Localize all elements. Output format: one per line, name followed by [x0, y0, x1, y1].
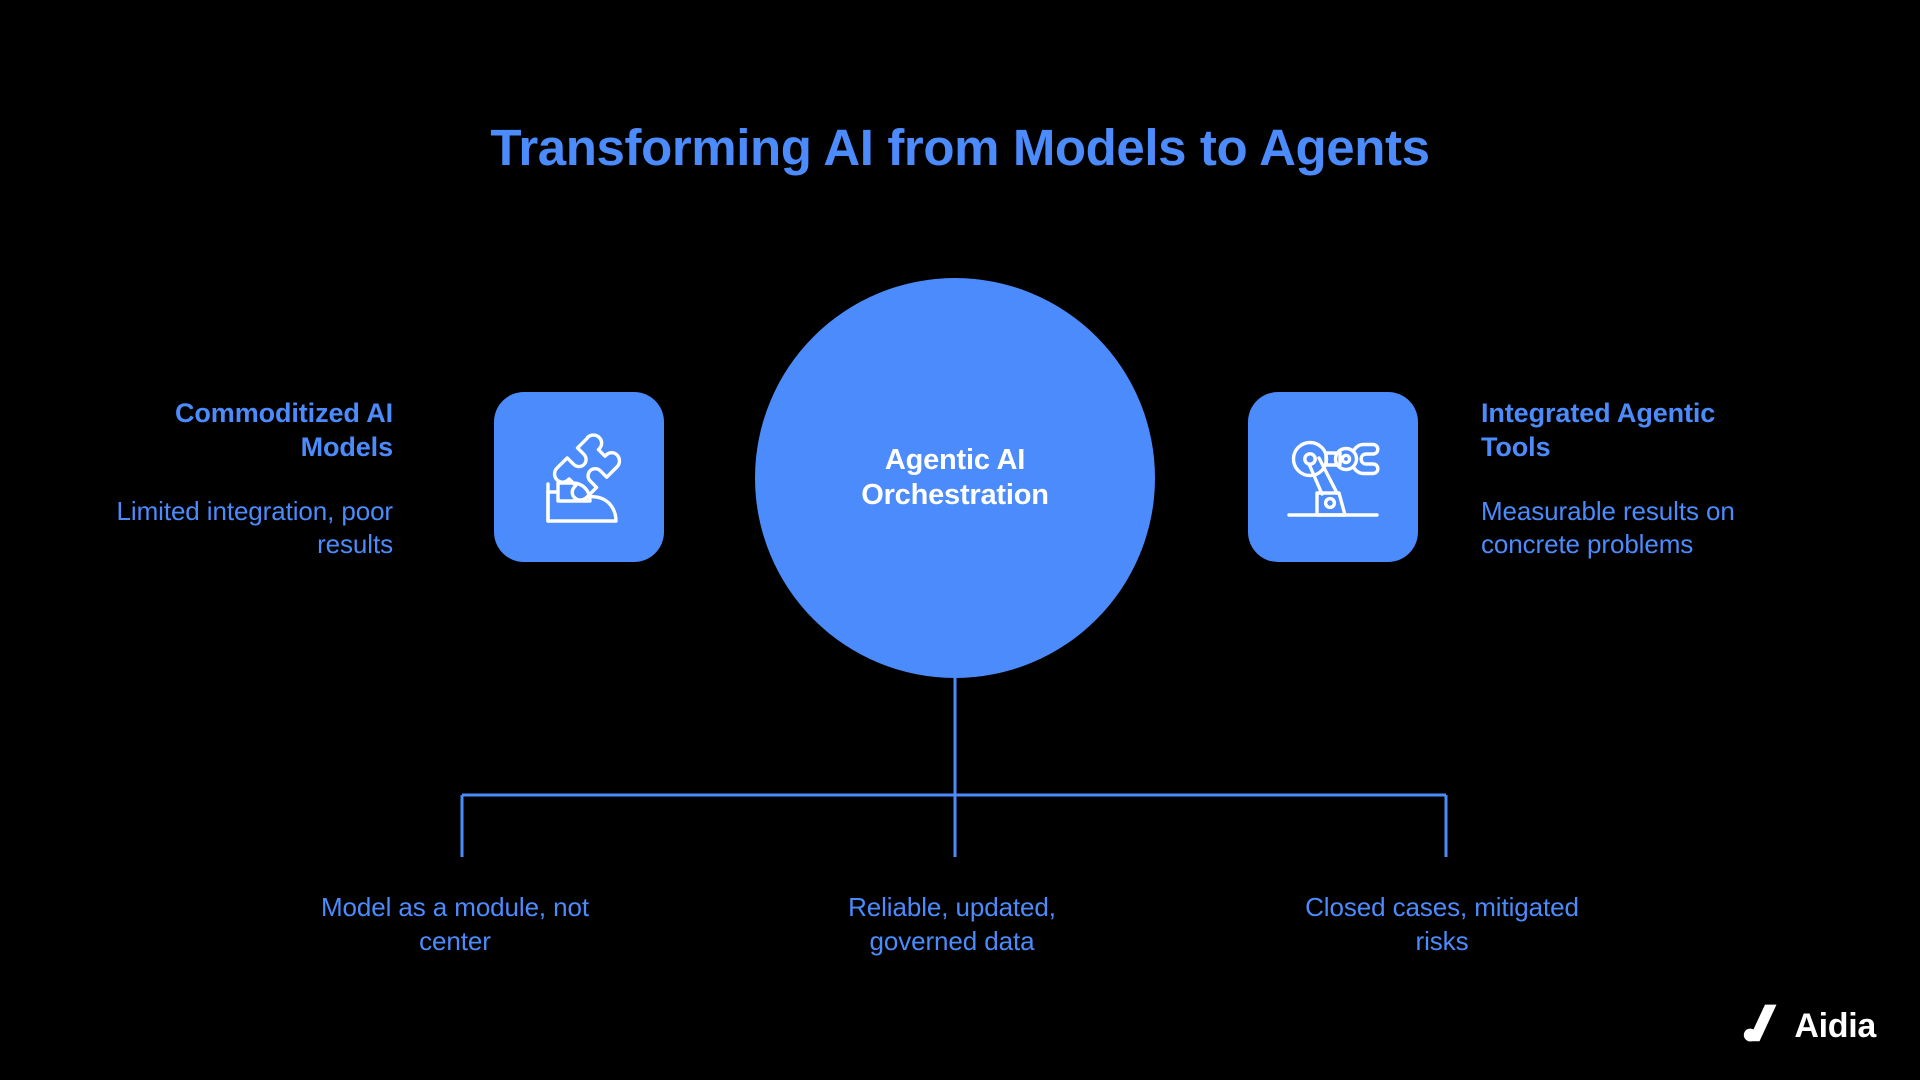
- right-concept-block: Integrated Agentic Tools Measurable resu…: [1481, 396, 1920, 562]
- slide-canvas: Transforming AI from Models to Agents Co…: [0, 0, 1920, 1080]
- page-title: Transforming AI from Models to Agents: [0, 118, 1920, 177]
- left-icon-tile: [494, 392, 664, 562]
- aidia-mark-icon: [1743, 1003, 1781, 1048]
- outcome-label-left: Model as a module, not center: [245, 890, 665, 959]
- robot-arm-icon: [1279, 423, 1387, 531]
- puzzle-piece-icon: [525, 423, 633, 531]
- center-node-label: Agentic AI Orchestration: [861, 443, 1049, 514]
- brand-logo: Aidia: [1743, 1003, 1876, 1048]
- right-concept-body: Measurable results on concrete problems: [1481, 495, 1920, 563]
- brand-name: Aidia: [1794, 1009, 1876, 1043]
- left-concept-body: Limited integration, poor results: [0, 495, 393, 563]
- right-concept-heading: Integrated Agentic Tools: [1481, 396, 1920, 465]
- left-concept-heading: Commoditized AI Models: [0, 396, 393, 465]
- outcome-label-center: Reliable, updated, governed data: [742, 890, 1162, 959]
- left-concept-block: Commoditized AI Models Limited integrati…: [0, 396, 430, 562]
- right-icon-tile: [1248, 392, 1418, 562]
- center-node-agentic-ai-orchestration: Agentic AI Orchestration: [755, 278, 1155, 678]
- outcome-label-right: Closed cases, mitigated risks: [1232, 890, 1652, 959]
